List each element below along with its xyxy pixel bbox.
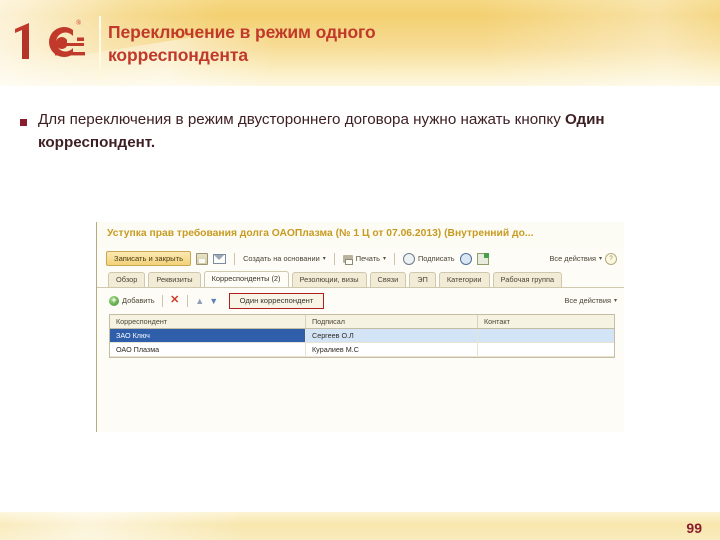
correspondents-table: Корреспондент Подписал Контакт ЗАО Ключ … xyxy=(109,314,615,358)
tab-svyazi[interactable]: Связи xyxy=(370,272,407,287)
tab-korrespondenty[interactable]: Корреспонденты (2) xyxy=(204,271,289,287)
arrow-up-icon[interactable]: ▲ xyxy=(195,296,205,306)
chevron-down-icon: ▾ xyxy=(383,255,386,262)
tab-obzor[interactable]: Обзор xyxy=(108,272,145,287)
tab-rekvizity[interactable]: Реквизиты xyxy=(148,272,200,287)
bullet-square-icon xyxy=(20,119,27,126)
app-command-bar: Добавить ✕ ▲ ▼ Один корреспондент Все де… xyxy=(97,290,624,311)
column-header-contact[interactable]: Контакт xyxy=(478,315,614,328)
all-actions-menu[interactable]: Все действия ▾ ? xyxy=(550,253,618,265)
slide-footer-band xyxy=(0,512,720,540)
app-tab-strip: Обзор Реквизиты Корреспонденты (2) Резол… xyxy=(97,269,624,288)
cell-signed-by[interactable]: Куралиев М.С xyxy=(306,343,478,356)
column-header-correspondent[interactable]: Корреспондент xyxy=(110,315,306,328)
add-row-label: Добавить xyxy=(122,296,155,305)
page-number: 99 xyxy=(686,520,702,536)
add-row-button[interactable]: Добавить xyxy=(109,296,155,306)
column-header-signed-by[interactable]: Подписал xyxy=(306,315,478,328)
table-row[interactable]: ОАО Плазма Куралиев М.С xyxy=(110,343,614,357)
cell-contact[interactable] xyxy=(478,329,614,342)
toolbar-separator xyxy=(334,253,335,265)
chevron-down-icon: ▾ xyxy=(614,297,617,304)
print-button[interactable]: Печать ▾ xyxy=(343,254,386,263)
table-header-row: Корреспондент Подписал Контакт xyxy=(110,315,614,329)
chevron-down-icon: ▾ xyxy=(599,255,602,262)
footer-sheen xyxy=(0,512,244,540)
print-label: Печать xyxy=(356,254,380,263)
create-based-on-label: Создать на основании xyxy=(243,254,320,263)
tab-kategorii[interactable]: Категории xyxy=(439,272,490,287)
toolbar-separator xyxy=(394,253,395,265)
signature-seal-icon xyxy=(403,253,415,265)
slide-header-band: ® Переключение в режим одного корреспонд… xyxy=(0,0,720,86)
table-all-actions-label: Все действия xyxy=(565,296,611,305)
one-correspondent-button[interactable]: Один корреспондент xyxy=(229,293,325,309)
toolbar-separator xyxy=(234,253,235,265)
printer-icon xyxy=(343,255,353,263)
tab-ep[interactable]: ЭП xyxy=(409,272,436,287)
all-actions-label: Все действия xyxy=(550,254,596,263)
app-window-title: Уступка прав требования долга ОАОПлазма … xyxy=(107,228,624,239)
embedded-app-screenshot: Уступка прав требования долга ОАОПлазма … xyxy=(96,222,624,432)
clock-icon[interactable] xyxy=(460,253,472,265)
page-title: Переключение в режим одного корреспонден… xyxy=(108,21,508,68)
chevron-down-icon: ▾ xyxy=(323,255,326,262)
tab-rezolyucii-vizy[interactable]: Резолюции, визы xyxy=(292,272,367,287)
body-paragraph: Для переключения в режим двустороннего д… xyxy=(38,108,708,154)
add-icon xyxy=(109,296,119,306)
app-main-toolbar: Записать и закрыть Создать на основании … xyxy=(97,249,624,268)
command-separator xyxy=(187,295,188,307)
save-icon[interactable] xyxy=(196,253,208,265)
arrow-down-icon[interactable]: ▼ xyxy=(209,296,219,306)
command-separator xyxy=(162,295,163,307)
cell-contact[interactable] xyxy=(478,343,614,356)
table-all-actions-menu[interactable]: Все действия ▾ xyxy=(565,296,618,305)
cell-signed-by[interactable]: Сергеев О.Л xyxy=(306,329,478,342)
delete-icon[interactable]: ✕ xyxy=(170,296,180,306)
app-window-titlebar: Уступка прав требования долга ОАОПлазма … xyxy=(97,222,624,248)
help-icon[interactable]: ? xyxy=(605,253,617,265)
create-based-on-button[interactable]: Создать на основании ▾ xyxy=(243,254,326,263)
envelope-icon[interactable] xyxy=(213,254,226,264)
cell-correspondent[interactable]: ЗАО Ключ xyxy=(110,329,306,342)
tab-rabochaya-gruppa[interactable]: Рабочая группа xyxy=(493,272,563,287)
table-row[interactable]: ЗАО Ключ Сергеев О.Л xyxy=(110,329,614,343)
excel-export-icon[interactable] xyxy=(477,253,489,265)
header-divider xyxy=(99,16,101,80)
cell-correspondent[interactable]: ОАО Плазма xyxy=(110,343,306,356)
save-and-close-button[interactable]: Записать и закрыть xyxy=(106,251,191,266)
sign-button[interactable]: Подписать xyxy=(403,253,455,265)
registered-trademark-icon: ® xyxy=(76,19,81,27)
body-text-plain: Для переключения в режим двустороннего д… xyxy=(38,111,565,128)
sign-label: Подписать xyxy=(418,254,455,263)
